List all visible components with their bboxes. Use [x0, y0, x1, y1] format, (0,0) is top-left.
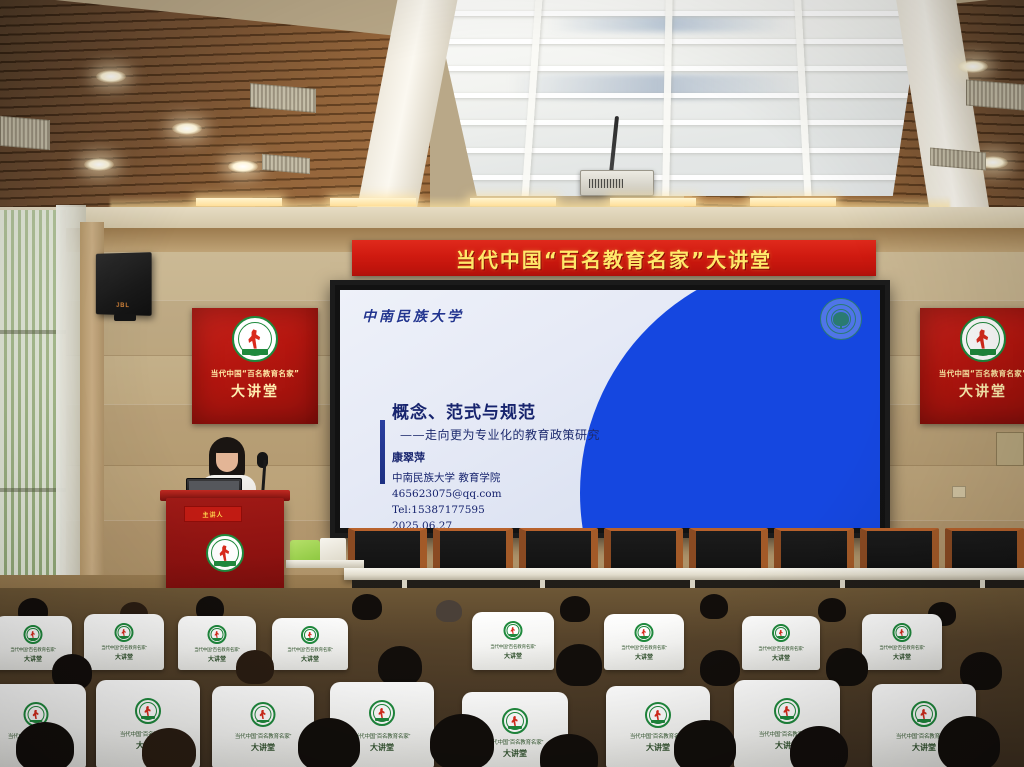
skylight-bar: [383, 93, 965, 98]
conference-seal-logo: [774, 698, 800, 724]
green-bag: [290, 540, 320, 562]
seal-base-bar: [780, 716, 794, 719]
slide-email: 465623075@qq.com: [392, 487, 772, 502]
slide-phone: Tel:15387177595: [392, 503, 772, 518]
conference-seal-logo: [232, 316, 278, 362]
audience-head: [556, 644, 602, 686]
cove-light-segment: [196, 198, 282, 206]
conference-seal-logo: [911, 701, 937, 727]
chair-cover-line1: 当代中国“百名教育名家”: [742, 646, 820, 652]
podium-nameplate-text: 主讲人: [202, 510, 223, 519]
audience-head: [436, 600, 462, 622]
chair-cover-line2: 大讲堂: [84, 652, 164, 661]
slide-university-name: 中南民族大学: [362, 306, 464, 326]
skylight-bar: [383, 39, 965, 44]
chair-cover-line2: 大讲堂: [862, 652, 942, 661]
slide-date: 2025.06.27: [392, 519, 772, 528]
university-seal-logo: [820, 298, 862, 340]
projector-vent: [589, 179, 623, 188]
audience-head: [938, 716, 1000, 767]
audience-head: [700, 594, 728, 619]
audience-head: [378, 646, 422, 686]
audience-head: [818, 598, 846, 622]
seal-base-bar: [28, 638, 38, 640]
chair-cover-line1: 当代中国“百名教育名家”: [272, 647, 348, 653]
skylight-bar: [383, 148, 965, 153]
audience-head: [298, 718, 360, 767]
chair-cover-line1: 当代中国“百名教育名家”: [84, 645, 164, 651]
skylight-bar: [383, 175, 965, 180]
ceiling-projector: [580, 170, 654, 196]
conference-seal-logo: [635, 623, 654, 642]
conference-seal-logo: [206, 534, 244, 572]
conference-seal-logo: [772, 624, 790, 642]
conference-seal-logo: [251, 702, 276, 727]
slide-subtitle: ——走向更为专业化的教育政策研究: [400, 426, 772, 443]
seal-base-bar: [242, 349, 269, 355]
cove-light-segment: [330, 198, 416, 206]
conference-seal-logo: [504, 621, 523, 640]
tree-icon: [833, 312, 849, 326]
event-header-banner-text: 当代中国“百名教育名家”大讲堂: [456, 244, 772, 273]
seal-base-bar: [508, 726, 522, 729]
skylight-bar: [383, 120, 965, 125]
projection-screen: 中南民族大学 概念、范式与规范 ——走向更为专业化的教育政策研究 康翠萍 中南民…: [330, 280, 890, 538]
conference-seal-logo: [135, 698, 161, 724]
audience-head: [430, 714, 494, 767]
wall-mounted-loudspeaker: JBL: [96, 252, 152, 316]
downlight: [84, 158, 114, 171]
seal-base-bar: [651, 720, 665, 723]
conference-seal-logo: [208, 625, 227, 644]
conference-seal-logo: [115, 623, 134, 642]
audience-area: 当代中国“百名教育名家” 大讲堂 当代中国“百名教育名家” 大讲堂 当代中国“百…: [0, 588, 1024, 767]
seal-base-bar: [897, 636, 907, 638]
tissue-box: [320, 538, 346, 562]
seal-base-bar: [375, 718, 389, 721]
speaker-brand-label: JBL: [116, 303, 130, 309]
speaker-mount-bracket: [114, 314, 136, 321]
slide-meta-block: 中南民族大学 教育学院 465623075@qq.com Tel:1538717…: [392, 471, 772, 528]
presentation-slide: 中南民族大学 概念、范式与规范 ——走向更为专业化的教育政策研究 康翠萍 中南民…: [340, 290, 880, 528]
slide-accent-bar: [380, 420, 385, 484]
side-banner-left: 当代中国“百名教育名家” 大讲堂: [192, 308, 318, 424]
seal-base-bar: [970, 349, 997, 355]
podium-logo-wrap: [206, 534, 244, 572]
cove-light-segment: [610, 198, 696, 206]
cove-light-segment: [750, 198, 836, 206]
seal-base-bar: [917, 719, 931, 722]
audience-chair: 当代中国“百名教育名家” 大讲堂: [84, 614, 164, 670]
downlight: [172, 122, 202, 135]
ceiling: [0, 0, 1024, 218]
audience-head: [674, 720, 736, 767]
audience-head: [352, 594, 382, 620]
audience-chair: 当代中国“百名教育名家” 大讲堂: [272, 618, 348, 670]
chair-cover-line1: 当代中国“百名教育名家”: [862, 645, 942, 651]
slide-author: 康翠萍: [392, 449, 772, 465]
chair-cover-line2: 大讲堂: [742, 653, 820, 662]
ceiling-vent: [966, 79, 1024, 110]
audience-head: [560, 596, 590, 622]
seal-base-bar: [141, 716, 155, 719]
chair-cover-line2: 大讲堂: [272, 654, 348, 663]
seal-base-bar: [119, 636, 129, 638]
audience-head: [700, 650, 740, 686]
audience-head: [236, 650, 274, 684]
wall-access-panel: [996, 432, 1024, 466]
chair-cover-line2: 大讲堂: [604, 652, 684, 661]
audience-head: [16, 722, 74, 767]
conference-seal-logo: [502, 708, 528, 734]
ceiling-vent: [0, 116, 50, 150]
audience-chair: 当代中国“百名教育名家” 大讲堂: [472, 612, 554, 670]
wall-outlet-plate: [952, 486, 966, 498]
downlight: [96, 70, 126, 83]
slide-affiliation: 中南民族大学 教育学院: [392, 471, 772, 486]
stage-table: [344, 568, 1024, 580]
event-header-banner: 当代中国“百名教育名家”大讲堂: [352, 240, 876, 276]
chair-cover-line2: 大讲堂: [472, 651, 554, 660]
audience-chair: 当代中国“百名教育名家” 大讲堂: [862, 614, 942, 670]
skylight-bar: [383, 11, 965, 16]
conference-seal-logo: [24, 625, 43, 644]
conference-seal-logo: [369, 700, 395, 726]
side-table: [286, 560, 364, 568]
conference-seal-logo: [645, 702, 671, 728]
audience-chair: 当代中国“百名教育名家” 大讲堂: [742, 616, 820, 670]
seal-base-bar: [508, 634, 518, 636]
slide-text-block: 概念、范式与规范 ——走向更为专业化的教育政策研究 康翠萍 中南民族大学 教育学…: [392, 398, 772, 528]
side-banner-line1: 当代中国“百名教育名家”: [939, 368, 1024, 379]
chair-cover-line1: 当代中国“百名教育名家”: [604, 645, 684, 651]
side-banner-line1: 当代中国“百名教育名家”: [211, 368, 299, 379]
seal-base-bar: [214, 561, 236, 566]
seal-base-bar: [212, 638, 222, 640]
skylight-panel-grid: [404, 0, 924, 196]
skylight-bar: [383, 66, 965, 71]
seal-base-bar: [639, 636, 649, 638]
side-banner-right: 当代中国“百名教育名家” 大讲堂: [920, 308, 1024, 424]
audience-chair: 当代中国“百名教育名家” 大讲堂: [604, 614, 684, 670]
podium-nameplate: 主讲人: [184, 506, 242, 522]
slide-title: 概念、范式与规范: [392, 398, 772, 423]
downlight: [958, 60, 988, 73]
chair-cover-line1: 当代中国“百名教育名家”: [472, 644, 554, 650]
downlight: [228, 160, 258, 173]
audience-head: [142, 728, 196, 767]
presenter-fringe: [214, 442, 240, 453]
side-banner-line2: 大讲堂: [231, 381, 279, 401]
lecture-hall-photo: JBL 当代中国“百名教育名家”大讲堂 当代中国“百名教育名家” 大讲堂 当代中…: [0, 0, 1024, 767]
conference-seal-logo: [893, 623, 912, 642]
chair-cover-line1: 当代中国“百名教育名家”: [0, 647, 72, 653]
cove-light-segment: [470, 198, 556, 206]
conference-seal-logo: [960, 316, 1006, 362]
side-banner-line2: 大讲堂: [959, 381, 1007, 401]
conference-seal-logo: [301, 626, 319, 644]
